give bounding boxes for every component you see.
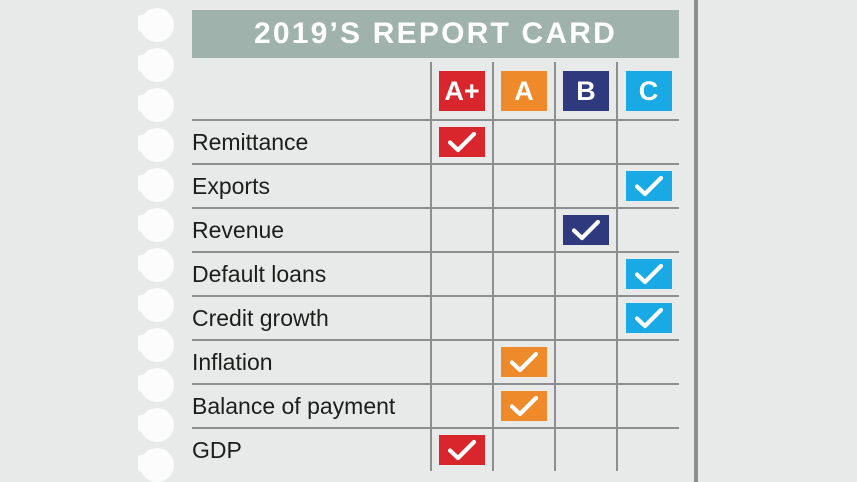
grade-cell-b[interactable]	[555, 384, 617, 428]
report-card: 2019’S REPORT CARD A+ABC RemittanceExpor…	[192, 0, 679, 482]
grade-cell-a[interactable]	[493, 208, 555, 252]
spiral-ring	[138, 408, 174, 442]
grade-cell-b[interactable]	[555, 340, 617, 384]
empty-cell	[501, 303, 547, 333]
empty-cell	[563, 127, 609, 157]
grade-chip-b: B	[563, 71, 609, 111]
grade-cell-b[interactable]	[555, 164, 617, 208]
check-icon	[626, 171, 672, 201]
grade-cell-a[interactable]	[493, 164, 555, 208]
grade-cell-aplus[interactable]	[431, 120, 493, 164]
grade-table-body: RemittanceExportsRevenueDefault loansCre…	[192, 120, 679, 471]
grade-cell-c[interactable]	[617, 120, 679, 164]
empty-cell	[439, 347, 485, 377]
grade-header-a: A	[493, 62, 555, 120]
check-icon	[501, 391, 547, 421]
table-row: Inflation	[192, 340, 679, 384]
row-label-a-5: Inflation	[192, 340, 431, 384]
spiral-ring-head	[140, 328, 174, 362]
row-label-aplus-0: Remittance	[192, 120, 431, 164]
grade-cell-aplus[interactable]	[431, 428, 493, 471]
empty-cell	[563, 171, 609, 201]
grade-table: A+ABC RemittanceExportsRevenueDefault lo…	[192, 62, 679, 471]
grade-cell-c[interactable]	[617, 164, 679, 208]
grade-cell-c[interactable]	[617, 296, 679, 340]
grade-table-head: A+ABC	[192, 62, 679, 120]
grade-cell-aplus[interactable]	[431, 164, 493, 208]
spiral-ring	[138, 168, 174, 202]
grade-chip-a: A	[501, 71, 547, 111]
spiral-ring-head	[140, 208, 174, 242]
empty-cell	[626, 391, 672, 421]
empty-cell	[501, 171, 547, 201]
empty-cell	[626, 347, 672, 377]
grade-cell-b[interactable]	[555, 208, 617, 252]
grade-cell-aplus[interactable]	[431, 296, 493, 340]
empty-cell	[563, 435, 609, 465]
empty-cell	[439, 391, 485, 421]
spiral-ring-head	[140, 288, 174, 322]
grade-chip-aplus: A+	[439, 71, 485, 111]
spiral-ring-head	[140, 408, 174, 442]
grade-header-spacer	[192, 62, 431, 120]
grade-cell-b[interactable]	[555, 296, 617, 340]
spiral-ring	[138, 8, 174, 42]
spiral-ring	[138, 48, 174, 82]
grade-cell-b[interactable]	[555, 120, 617, 164]
empty-cell	[501, 435, 547, 465]
table-row: Balance of payment	[192, 384, 679, 428]
grade-header-row: A+ABC	[192, 62, 679, 120]
empty-cell	[439, 303, 485, 333]
grade-cell-a[interactable]	[493, 340, 555, 384]
grade-header-b: B	[555, 62, 617, 120]
grade-cell-aplus[interactable]	[431, 384, 493, 428]
empty-cell	[626, 435, 672, 465]
empty-cell	[626, 215, 672, 245]
page-title: 2019’S REPORT CARD	[254, 19, 617, 49]
row-label-b-2: Revenue	[192, 208, 431, 252]
empty-cell	[501, 215, 547, 245]
table-row: Exports	[192, 164, 679, 208]
table-row: Revenue	[192, 208, 679, 252]
check-icon	[563, 215, 609, 245]
empty-cell	[439, 215, 485, 245]
grade-cell-aplus[interactable]	[431, 208, 493, 252]
spiral-ring-head	[140, 128, 174, 162]
spiral-ring-head	[140, 248, 174, 282]
empty-cell	[563, 347, 609, 377]
empty-cell	[439, 171, 485, 201]
spiral-ring	[138, 248, 174, 282]
grade-cell-a[interactable]	[493, 252, 555, 296]
spiral-ring-head	[140, 48, 174, 82]
grade-cell-b[interactable]	[555, 252, 617, 296]
table-row: Remittance	[192, 120, 679, 164]
spiral-ring	[138, 128, 174, 162]
grade-cell-a[interactable]	[493, 120, 555, 164]
grade-cell-c[interactable]	[617, 208, 679, 252]
grade-chip-c: C	[626, 71, 672, 111]
grade-cell-c[interactable]	[617, 252, 679, 296]
grade-cell-c[interactable]	[617, 384, 679, 428]
grade-cell-c[interactable]	[617, 428, 679, 471]
empty-cell	[439, 259, 485, 289]
table-row: GDP	[192, 428, 679, 471]
spiral-ring-head	[140, 368, 174, 402]
spiral-ring	[138, 288, 174, 322]
spiral-ring	[138, 448, 174, 482]
spiral-ring-head	[140, 8, 174, 42]
row-label-a-6: Balance of payment	[192, 384, 431, 428]
check-icon	[626, 259, 672, 289]
empty-cell	[501, 259, 547, 289]
empty-cell	[626, 127, 672, 157]
grade-cell-b[interactable]	[555, 428, 617, 471]
spiral-ring-head	[140, 448, 174, 482]
spiral-ring	[138, 208, 174, 242]
row-label-c-4: Credit growth	[192, 296, 431, 340]
row-label-c-1: Exports	[192, 164, 431, 208]
spiral-ring	[138, 88, 174, 122]
spiral-ring-head	[140, 88, 174, 122]
row-label-aplus-7: GDP	[192, 428, 431, 471]
check-icon	[439, 435, 485, 465]
spiral-ring	[138, 368, 174, 402]
check-icon	[626, 303, 672, 333]
spiral-ring	[138, 328, 174, 362]
check-icon	[501, 347, 547, 377]
grade-header-c: C	[617, 62, 679, 120]
grade-cell-c[interactable]	[617, 340, 679, 384]
grade-header-aplus: A+	[431, 62, 493, 120]
empty-cell	[563, 259, 609, 289]
spiral-binding	[0, 0, 192, 482]
table-row: Default loans	[192, 252, 679, 296]
vertical-divider	[694, 0, 698, 482]
grade-cell-a[interactable]	[493, 428, 555, 471]
grade-cell-aplus[interactable]	[431, 252, 493, 296]
row-label-c-3: Default loans	[192, 252, 431, 296]
table-row: Credit growth	[192, 296, 679, 340]
grade-cell-aplus[interactable]	[431, 340, 493, 384]
check-icon	[439, 127, 485, 157]
empty-cell	[563, 391, 609, 421]
grade-cell-a[interactable]	[493, 296, 555, 340]
empty-cell	[563, 303, 609, 333]
spiral-ring-head	[140, 168, 174, 202]
empty-cell	[501, 127, 547, 157]
grade-cell-a[interactable]	[493, 384, 555, 428]
report-card-title-bar: 2019’S REPORT CARD	[192, 10, 679, 58]
